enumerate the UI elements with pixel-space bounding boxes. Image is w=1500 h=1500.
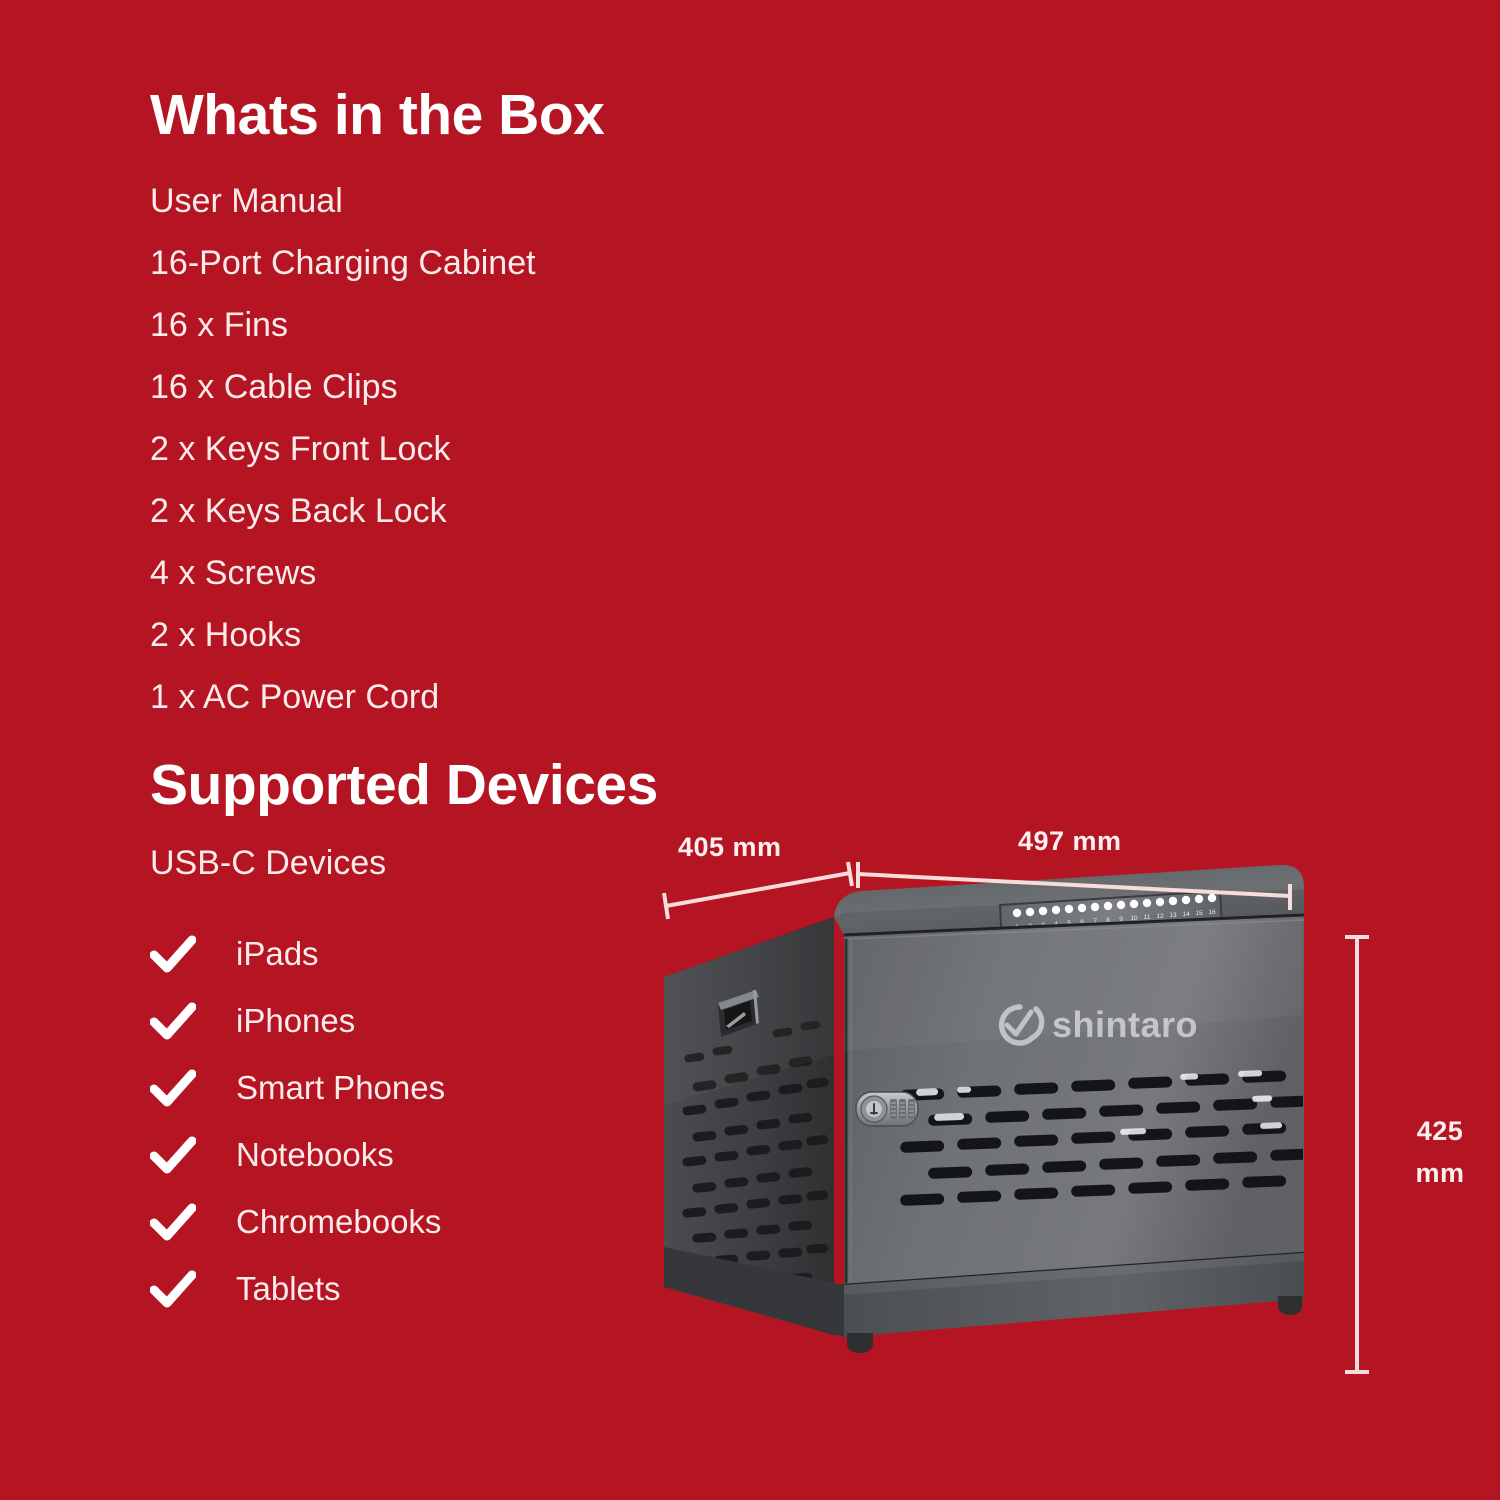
page-title-whats-in-the-box: Whats in the Box [150,86,770,146]
box-contents-list: User Manual 16-Port Charging Cabinet 16 … [150,170,770,728]
check-icon [150,1266,196,1312]
lock-thumbwheels[interactable] [890,1099,915,1119]
list-item-label: iPhones [236,1002,355,1040]
dimension-label-height: 425 mm [1400,1110,1480,1194]
list-item: 16-Port Charging Cabinet [150,232,770,294]
check-icon [150,998,196,1044]
list-item: 16 x Cable Clips [150,356,770,418]
list-item: 2 x Keys Back Lock [150,480,770,542]
dimension-height-value: 425 [1400,1110,1480,1152]
list-item-label: Notebooks [236,1136,394,1174]
list-item-label: Smart Phones [236,1069,445,1107]
svg-text:12: 12 [1156,913,1164,920]
list-item: 16 x Fins [150,294,770,356]
product-image-charging-cabinet: 12 34 56 78 910 1112 1314 1516 shintaro [620,855,1360,1455]
svg-text:13: 13 [1169,912,1177,919]
dimension-label-depth: 405 mm [678,832,782,863]
dimension-height-unit: mm [1400,1152,1480,1194]
svg-text:16: 16 [1208,909,1216,916]
list-item: 2 x Hooks [150,604,770,666]
svg-text:15: 15 [1195,910,1203,917]
section-title-supported-devices: Supported Devices [150,752,770,818]
check-icon [150,931,196,977]
list-item: User Manual [150,170,770,232]
door-combination-lock[interactable] [856,1092,918,1126]
check-icon [150,1132,196,1178]
list-item-label: Chromebooks [236,1203,441,1241]
list-item-label: Tablets [236,1270,341,1308]
list-item: 2 x Keys Front Lock [150,418,770,480]
list-item-label: iPads [236,935,319,973]
list-item: 4 x Screws [150,542,770,604]
dimension-label-width: 497 mm [1018,826,1122,857]
check-icon [150,1065,196,1111]
check-icon [150,1199,196,1245]
cabinet-front-door[interactable]: shintaro [844,915,1310,1285]
list-item: 1 x AC Power Cord [150,666,770,728]
svg-text:14: 14 [1182,911,1190,918]
svg-text:11: 11 [1144,914,1151,921]
